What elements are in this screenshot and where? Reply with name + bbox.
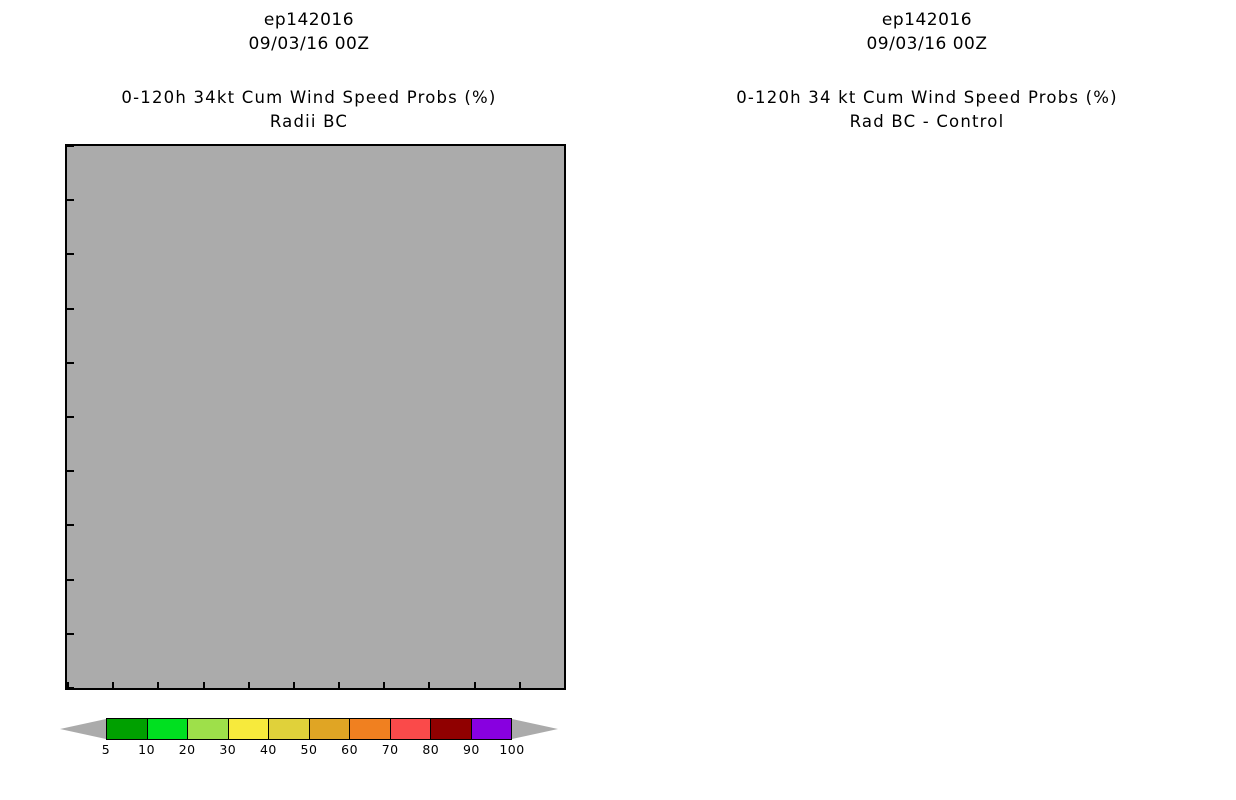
colorbar-tick-label: 40 bbox=[260, 742, 277, 757]
colorbar-swatch bbox=[472, 719, 512, 739]
left-axes: 19N18.5N18N17.5N17N16.5N16N15.5N15N14.5N… bbox=[67, 146, 564, 688]
left-panel: ep142016 09/03/16 00Z 0-120h 34kt Cum Wi… bbox=[0, 0, 618, 800]
colorbar-swatch bbox=[188, 719, 229, 739]
right-storm-id: ep142016 bbox=[618, 10, 1236, 30]
x-axis-tick bbox=[428, 682, 430, 688]
right-panel: ep142016 09/03/16 00Z 0-120h 34 kt Cum W… bbox=[618, 0, 1236, 800]
y-axis-tick bbox=[67, 253, 74, 255]
x-axis-tick bbox=[474, 682, 476, 688]
y-axis-tick bbox=[67, 199, 74, 201]
colorbar-tick-label: 80 bbox=[422, 742, 439, 757]
colorbar-tick-label: 100 bbox=[499, 742, 524, 757]
right-datetime: 09/03/16 00Z bbox=[618, 34, 1236, 54]
y-axis-tick bbox=[67, 416, 74, 418]
colorbar-tick-label: 30 bbox=[219, 742, 236, 757]
colorbar-swatch bbox=[350, 719, 391, 739]
x-axis-tick bbox=[112, 682, 114, 688]
y-axis-tick bbox=[67, 146, 74, 147]
left-colorbar-cells bbox=[106, 718, 512, 740]
left-colorbar-labels: 5102030405060708090100 bbox=[106, 742, 512, 758]
colorbar-swatch bbox=[310, 719, 351, 739]
y-axis-tick bbox=[67, 308, 74, 310]
colorbar-tick-label: 20 bbox=[179, 742, 196, 757]
left-storm-id: ep142016 bbox=[0, 10, 618, 30]
x-axis-tick bbox=[248, 682, 250, 688]
x-axis-tick bbox=[157, 682, 159, 688]
x-axis-tick bbox=[519, 682, 521, 688]
colorbar-tick-label: 70 bbox=[382, 742, 399, 757]
colorbar-swatch bbox=[269, 719, 310, 739]
left-datetime: 09/03/16 00Z bbox=[0, 34, 618, 54]
y-axis-tick bbox=[67, 470, 74, 472]
right-plot-subtitle: Rad BC - Control bbox=[618, 112, 1236, 131]
left-plot-title: 0-120h 34kt Cum Wind Speed Probs (%) bbox=[0, 88, 618, 107]
x-axis-tick bbox=[293, 682, 295, 688]
left-plot-subtitle: Radii BC bbox=[0, 112, 618, 131]
left-colorbar-high-arrow bbox=[512, 718, 558, 740]
x-axis-tick bbox=[67, 682, 69, 688]
colorbar-swatch bbox=[229, 719, 270, 739]
colorbar-swatch bbox=[431, 719, 472, 739]
left-colorbar bbox=[60, 718, 558, 740]
colorbar-tick-label: 10 bbox=[138, 742, 155, 757]
colorbar-tick-label: 60 bbox=[341, 742, 358, 757]
colorbar-tick-label: 50 bbox=[301, 742, 318, 757]
colorbar-tick-label: 5 bbox=[102, 742, 110, 757]
y-axis-tick bbox=[67, 579, 74, 581]
y-axis-tick bbox=[67, 524, 74, 526]
colorbar-swatch bbox=[107, 719, 148, 739]
x-axis-tick bbox=[203, 682, 205, 688]
colorbar-tick-label: 90 bbox=[463, 742, 480, 757]
right-plot-title: 0-120h 34 kt Cum Wind Speed Probs (%) bbox=[618, 88, 1236, 107]
left-plot-area: 19N18.5N18N17.5N17N16.5N16N15.5N15N14.5N… bbox=[65, 144, 566, 690]
colorbar-swatch bbox=[148, 719, 189, 739]
y-axis-tick bbox=[67, 362, 74, 364]
y-axis-tick bbox=[67, 633, 74, 635]
x-axis-tick bbox=[338, 682, 340, 688]
colorbar-swatch bbox=[391, 719, 432, 739]
x-axis-tick bbox=[383, 682, 385, 688]
left-colorbar-low-arrow bbox=[60, 718, 106, 740]
